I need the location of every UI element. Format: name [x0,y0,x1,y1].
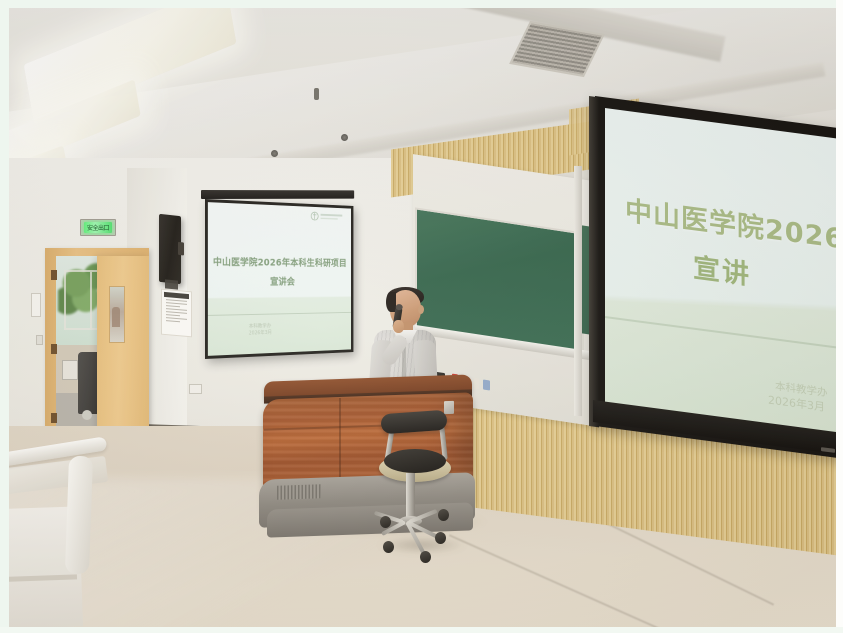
stool-caster [438,509,449,521]
wall-notice-poster [161,289,192,338]
wall-plate [31,293,41,317]
ledge-object-chalk [474,378,479,390]
left-screen-footer-line1: 本科教学办 [249,323,271,329]
classroom-door[interactable] [97,256,149,445]
chalkboard-track-post [574,166,582,416]
door-hinge [51,270,57,280]
exit-sign-label: 安全出口 [84,222,112,233]
stool-caster [383,541,394,553]
right-screen-title-line2: 宣讲 [693,246,751,293]
outside-sign [62,360,78,380]
ledge-object-marker [483,380,490,391]
right-screen-title-line1: 中山医学院2026年 [625,189,836,261]
right-screen-divider [605,316,836,351]
notice-header-band [164,292,189,299]
border-right [836,0,843,633]
stool-caster [420,551,431,563]
left-screen-footer-line2: 2026年3月 [249,330,272,337]
sun-yat-sen-university-logo-icon [310,211,345,224]
wall-speaker [159,214,181,284]
ceiling-sprinkler-icon [271,150,278,157]
presenter-hand [393,320,404,333]
presenter-ear [418,305,424,314]
white-table-leg [65,456,93,575]
stool-caster [435,532,446,544]
left-screen-roller [201,190,354,199]
border-bottom [0,627,843,633]
left-projection-screen: 中山医学院2026年本科生科研项目 宣讲会 本科教学办 2026年3月 [208,202,351,356]
podium-vent [277,484,321,500]
podium-badge [444,401,454,414]
exit-sign: 安全出口 [80,219,116,236]
swivel-stool[interactable] [384,449,446,473]
ceiling-sprinkler-icon [341,134,348,141]
wall-outlet [189,384,202,394]
border-top [0,0,843,8]
left-screen-frame: 中山医学院2026年本科生科研项目 宣讲会 本科教学办 2026年3月 [205,199,353,359]
left-screen-divider [208,312,351,316]
wall-bracket [165,279,178,289]
wall-switch[interactable] [36,335,43,345]
ceiling-nozzle-icon [314,88,319,100]
left-screen-title-line1: 中山医学院2026年本科生科研项目 [208,254,351,269]
notice-text-line [166,320,180,323]
photo-frame: 安全出口 [0,0,843,633]
left-screen-title-line2: 宣讲会 [208,274,351,288]
door-hinge [51,413,57,423]
lecture-hall-photo: 安全出口 [9,8,836,627]
stool-caster [380,516,391,528]
stool-gas-cylinder [406,473,415,521]
border-left [0,0,9,633]
right-screen-left-edge [589,96,599,427]
door-window-reflection [112,307,120,327]
door-hinge [51,344,57,354]
door-vision-panel [109,286,125,343]
right-projection-screen: 中山医学院2026年 宣讲 本科教学办 2026年3月 [605,108,836,441]
